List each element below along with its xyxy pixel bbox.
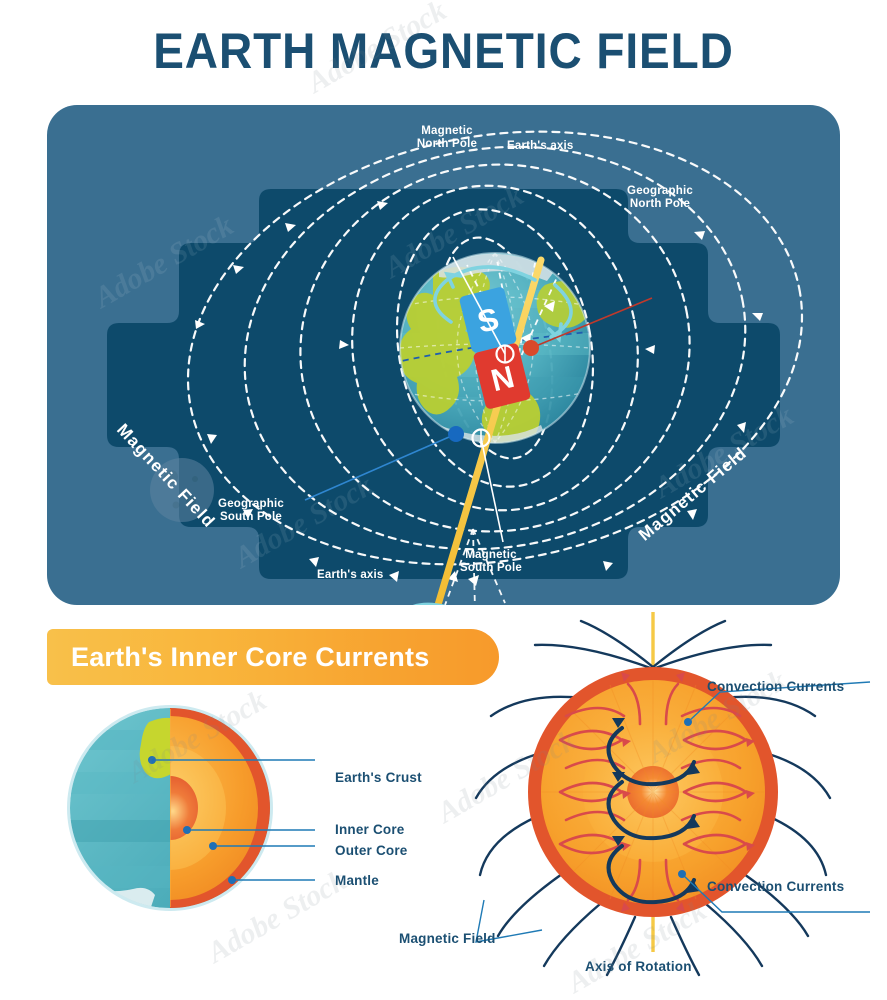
label-magnetic-field-left: Magnetic Field: [112, 420, 219, 532]
core-convection-diagram: [470, 612, 887, 1000]
watermark-text: Adobe Stock: [379, 179, 530, 286]
label-inner-core: Inner Core: [335, 822, 405, 837]
label-magnetic-south-pole: Magnetic South Pole: [435, 549, 547, 575]
label-outer-core: Outer Core: [335, 843, 408, 858]
banner-label: Earth's Inner Core Currents: [71, 642, 429, 673]
magnetic-field-panel: S N: [47, 105, 840, 605]
inner-core-currents-banner: Earth's Inner Core Currents: [47, 629, 499, 685]
label-earths-crust: Earth's Crust: [335, 770, 422, 785]
label-convection-currents-top: Convection Currents: [707, 679, 844, 694]
watermark-text: Adobe Stock: [89, 209, 240, 316]
label-magnetic-field-right: Magnetic Field: [635, 443, 751, 545]
label-convection-currents-bottom: Convection Currents: [707, 879, 844, 894]
label-axis-of-rotation: Axis of Rotation: [585, 959, 692, 974]
label-earths-axis-top: Earth's axis: [507, 140, 574, 153]
infographic-root: EARTH MAGNETIC FIELD: [0, 0, 887, 1000]
page-title: EARTH MAGNETIC FIELD: [35, 22, 851, 80]
label-mantle: Mantle: [335, 873, 379, 888]
label-geographic-north-pole: Geographic North Pole: [600, 185, 720, 211]
label-magnetic-north-pole: Magnetic North Pole: [392, 125, 502, 151]
earth-cross-section-diagram: [55, 700, 445, 930]
watermark-text: Adobe Stock: [649, 399, 800, 506]
label-earths-axis-bottom: Earth's axis: [317, 569, 384, 582]
label-magnetic-field-core: Magnetic Field: [399, 931, 496, 946]
